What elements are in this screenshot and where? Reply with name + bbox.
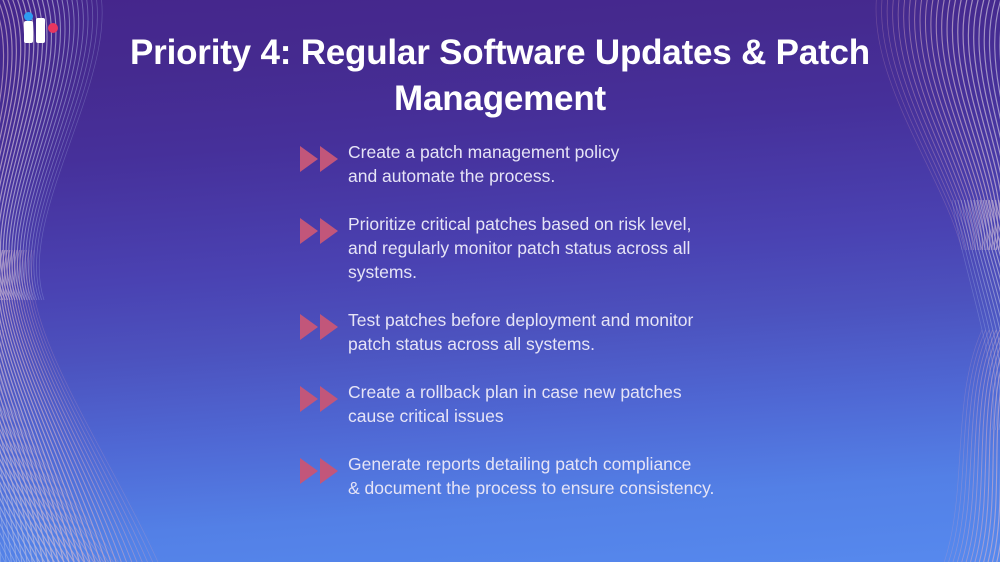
bullet-list: Create a patch management policy and aut… [296,138,916,500]
bullet-text: Generate reports detailing patch complia… [348,450,916,500]
double-chevron-icon [296,142,348,176]
logo-blue-dot-icon [24,12,33,21]
bullet-text: Test patches before deployment and monit… [348,306,916,356]
bullet-item: Prioritize critical patches based on ris… [296,210,916,284]
brand-logo [22,10,70,44]
bullet-item: Test patches before deployment and monit… [296,306,916,356]
bullet-text: Create a rollback plan in case new patch… [348,378,916,428]
bullet-text: Create a patch management policy and aut… [348,138,916,188]
slide-title: Priority 4: Regular Software Updates & P… [120,30,880,122]
bullet-item: Generate reports detailing patch complia… [296,450,916,500]
double-chevron-icon [296,454,348,488]
bullet-text: Prioritize critical patches based on ris… [348,210,916,284]
logo-bar-right-icon [36,18,45,43]
logo-bar-left-icon [24,21,33,43]
bullet-item: Create a patch management policy and aut… [296,138,916,188]
logo-pink-dot-icon [48,23,58,33]
presentation-slide: Priority 4: Regular Software Updates & P… [0,0,1000,562]
double-chevron-icon [296,214,348,248]
bullet-item: Create a rollback plan in case new patch… [296,378,916,428]
double-chevron-icon [296,382,348,416]
double-chevron-icon [296,310,348,344]
